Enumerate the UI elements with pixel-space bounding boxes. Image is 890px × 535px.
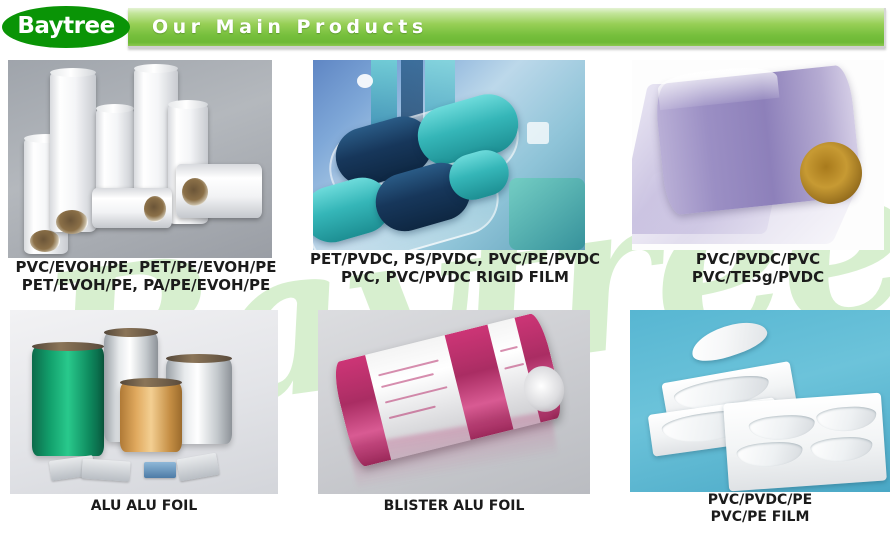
product-caption-3: PVC/PVDC/PVC PVC/TE5g/PVDC [632, 250, 884, 287]
product-caption-6: PVC/PVDC/PE PVC/PE FILM [630, 492, 890, 526]
printed-text [504, 363, 524, 370]
blister-pack [81, 458, 130, 481]
suppository [687, 315, 770, 368]
highlight [357, 74, 373, 88]
printed-text [385, 386, 448, 403]
blister-pack [176, 453, 219, 482]
product-image-6 [630, 310, 890, 492]
suppository-strip-multi [723, 393, 887, 492]
roll-core [144, 196, 166, 222]
product-image-4 [10, 310, 278, 494]
strip-cavity [736, 440, 804, 469]
highlight [527, 122, 549, 144]
roll-core-gold [800, 142, 862, 204]
product-card-6[interactable] [630, 310, 890, 492]
film-roll [50, 72, 96, 232]
roll-core [182, 178, 208, 206]
product-card-5[interactable] [318, 310, 590, 494]
brand-logo-text: Baytree [17, 15, 114, 40]
strip-cavity [810, 435, 874, 463]
printed-text [389, 406, 436, 420]
page-header: Our Main Products Baytree [0, 0, 890, 52]
brand-logo[interactable]: Baytree [2, 6, 130, 48]
foil-roll-green [32, 346, 104, 456]
product-image-1 [8, 60, 272, 258]
roll-core [30, 230, 60, 252]
product-caption-2: PET/PVDC, PS/PVDC, PVC/PE/PVDC PVC, PVC/… [295, 250, 615, 287]
strip-cavity [748, 413, 816, 442]
product-card-4[interactable] [10, 310, 278, 494]
printed-text [500, 346, 518, 352]
product-image-2 [313, 60, 585, 250]
product-card-3[interactable] [632, 60, 884, 250]
foil-roll-gold [120, 382, 182, 452]
product-caption-4: ALU ALU FOIL [10, 498, 278, 515]
banner-bar: Our Main Products [128, 8, 886, 48]
product-card-2[interactable] [313, 60, 585, 250]
product-grid: PVC/EVOH/PE, PET/PE/EVOH/PE PET/EVOH/PE,… [0, 52, 890, 535]
printed-text [381, 373, 434, 388]
strip-cavity [816, 405, 878, 433]
product-image-3 [632, 60, 884, 250]
product-card-1[interactable] [8, 60, 272, 258]
page-title: Our Main Products [152, 16, 428, 38]
blister-edge [509, 178, 585, 250]
roll-core [56, 210, 88, 234]
blister-pack-blue [144, 462, 176, 478]
product-caption-1: PVC/EVOH/PE, PET/PE/EVOH/PE PET/EVOH/PE,… [0, 258, 292, 295]
product-image-5 [318, 310, 590, 494]
product-caption-5: BLISTER ALU FOIL [318, 498, 590, 515]
